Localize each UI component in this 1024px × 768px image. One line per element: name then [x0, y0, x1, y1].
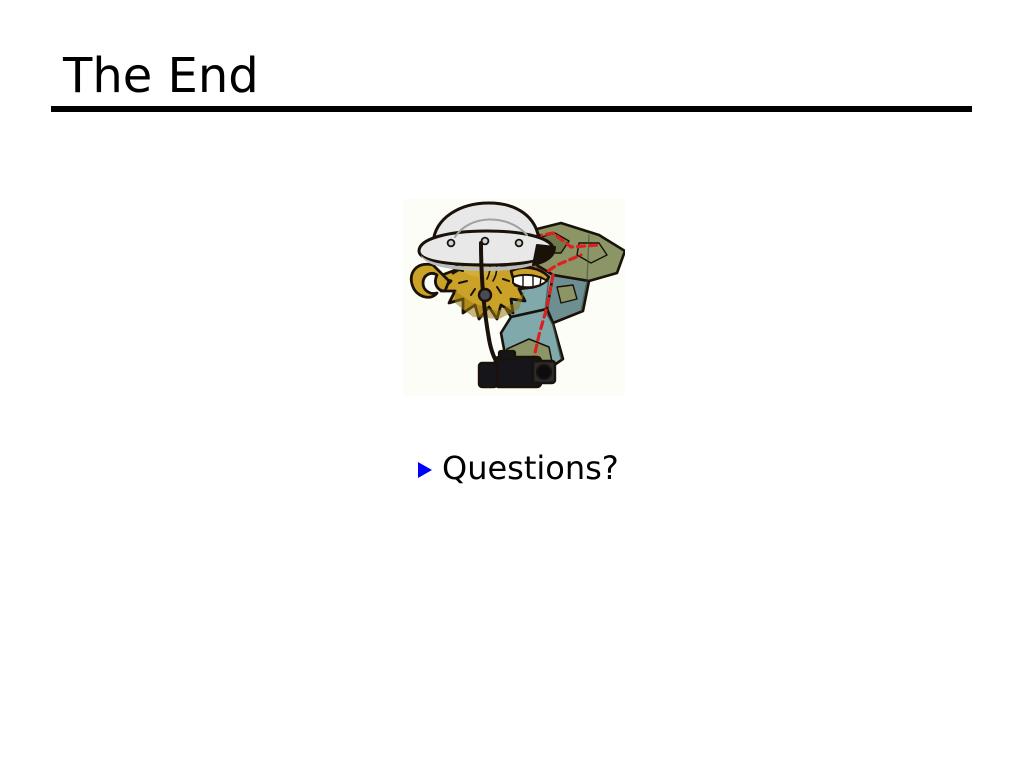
puffy-explorer-icon [403, 199, 625, 396]
triangle-right-bullet-icon [418, 462, 432, 478]
list-item: Questions? [418, 448, 619, 488]
page-title: The End [51, 48, 972, 104]
title-block: The End [51, 48, 972, 112]
title-divider [51, 106, 972, 112]
slide: The End [0, 0, 1024, 768]
picture-frame [403, 199, 625, 396]
bullet-label: Questions? [442, 448, 619, 488]
